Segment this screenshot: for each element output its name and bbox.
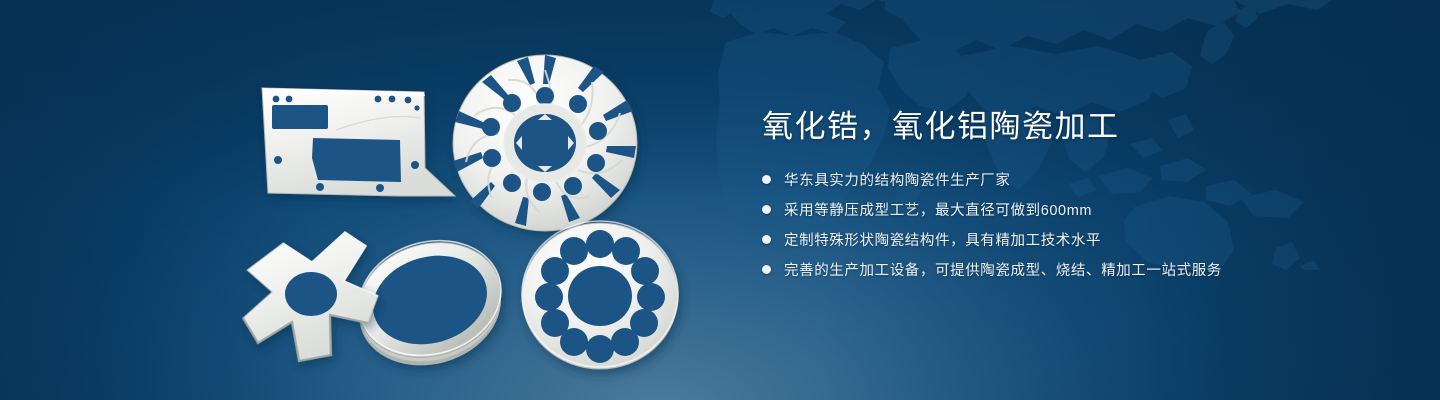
bullet-dot-icon [762, 265, 771, 274]
feature-text: 完善的生产加工设备，可提供陶瓷成型、烧结、精加工一站式服务 [784, 259, 1222, 280]
bullet-dot-icon [762, 175, 771, 184]
banner-text-block: 氧化锆，氧化铝陶瓷加工 华东具实力的结构陶瓷件生产厂家 采用等静压成型工艺，最大… [762, 108, 1382, 280]
bullet-dot-icon [762, 205, 771, 214]
list-item: 华东具实力的结构陶瓷件生产厂家 [762, 169, 1382, 190]
page-title: 氧化锆，氧化铝陶瓷加工 [762, 108, 1382, 147]
feature-list: 华东具实力的结构陶瓷件生产厂家 采用等静压成型工艺，最大直径可做到600mm 定… [762, 169, 1382, 280]
ceramic-products-photo [0, 0, 720, 400]
ceramic-cross-plate [243, 232, 378, 361]
feature-text: 定制特殊形状陶瓷结构件，具有精加工技术水平 [784, 229, 1101, 250]
ceramic-impeller-wheel [453, 55, 637, 231]
bullet-dot-icon [762, 235, 771, 244]
list-item: 定制特殊形状陶瓷结构件，具有精加工技术水平 [762, 229, 1382, 250]
ceramic-processing-banner: 氧化锆，氧化铝陶瓷加工 华东具实力的结构陶瓷件生产厂家 采用等静压成型工艺，最大… [0, 0, 1440, 400]
list-item: 完善的生产加工设备，可提供陶瓷成型、烧结、精加工一站式服务 [762, 259, 1382, 280]
feature-text: 采用等静压成型工艺，最大直径可做到600mm [784, 199, 1092, 220]
ceramic-perforated-disc [522, 221, 678, 369]
ceramic-machined-plate [262, 88, 455, 196]
feature-text: 华东具实力的结构陶瓷件生产厂家 [784, 169, 1011, 190]
list-item: 采用等静压成型工艺，最大直径可做到600mm [762, 199, 1382, 220]
